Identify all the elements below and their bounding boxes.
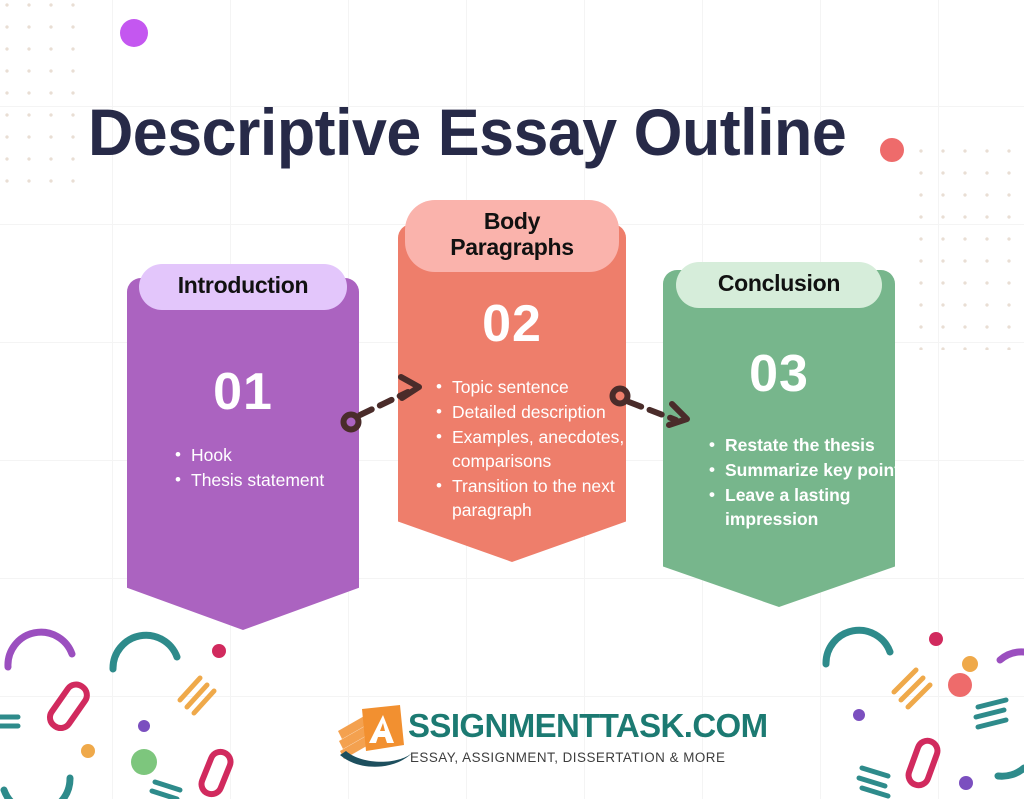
outline-card-introduction[interactable]: 01 Hook Thesis statement Introduction <box>127 278 359 630</box>
list-item: Detailed description <box>452 401 662 425</box>
site-logo[interactable]: SSIGNMENTTASK.COM ESSAY, ASSIGNMENT, DIS… <box>336 703 692 775</box>
outline-cards: 01 Hook Thesis statement Introduction 02… <box>0 0 1024 799</box>
list-item: Thesis statement <box>191 469 391 493</box>
card-bullet-list-conclusion: Restate the thesis Summarize key points … <box>689 434 939 533</box>
list-item: Topic sentence <box>452 376 662 400</box>
card-header-conclusion: Conclusion <box>676 262 882 308</box>
card-header-body-paragraphs: Body Paragraphs <box>405 200 619 272</box>
list-item: Examples, anecdotes, or comparisons <box>452 426 662 474</box>
list-item: Restate the thesis <box>725 434 925 458</box>
list-item: Hook <box>191 444 391 468</box>
card-number-introduction: 01 <box>127 362 359 422</box>
logo-tagline: ESSAY, ASSIGNMENT, DISSERTATION & MORE <box>410 750 725 765</box>
book-logo-icon <box>336 703 416 769</box>
card-number-conclusion: 03 <box>663 344 895 404</box>
infographic-canvas: Descriptive Essay Outline 01 Hook Thesis… <box>0 0 1024 799</box>
card-header-introduction: Introduction <box>139 264 347 310</box>
card-number-body-paragraphs: 02 <box>398 294 626 354</box>
card-bullet-list-introduction: Hook Thesis statement <box>155 444 405 494</box>
list-item: Summarize key points <box>725 459 925 483</box>
card-bullet-list-body-paragraphs: Topic sentence Detailed description Exam… <box>416 376 676 524</box>
list-item: Leave a lasting impression <box>725 484 925 532</box>
list-item: Transition to the next paragraph <box>452 475 662 523</box>
outline-card-conclusion[interactable]: 03 Restate the thesis Summarize key poin… <box>663 270 895 607</box>
logo-wordmark: SSIGNMENTTASK.COM <box>408 707 768 745</box>
outline-card-body-paragraphs[interactable]: 02 Topic sentence Detailed description E… <box>398 224 626 562</box>
